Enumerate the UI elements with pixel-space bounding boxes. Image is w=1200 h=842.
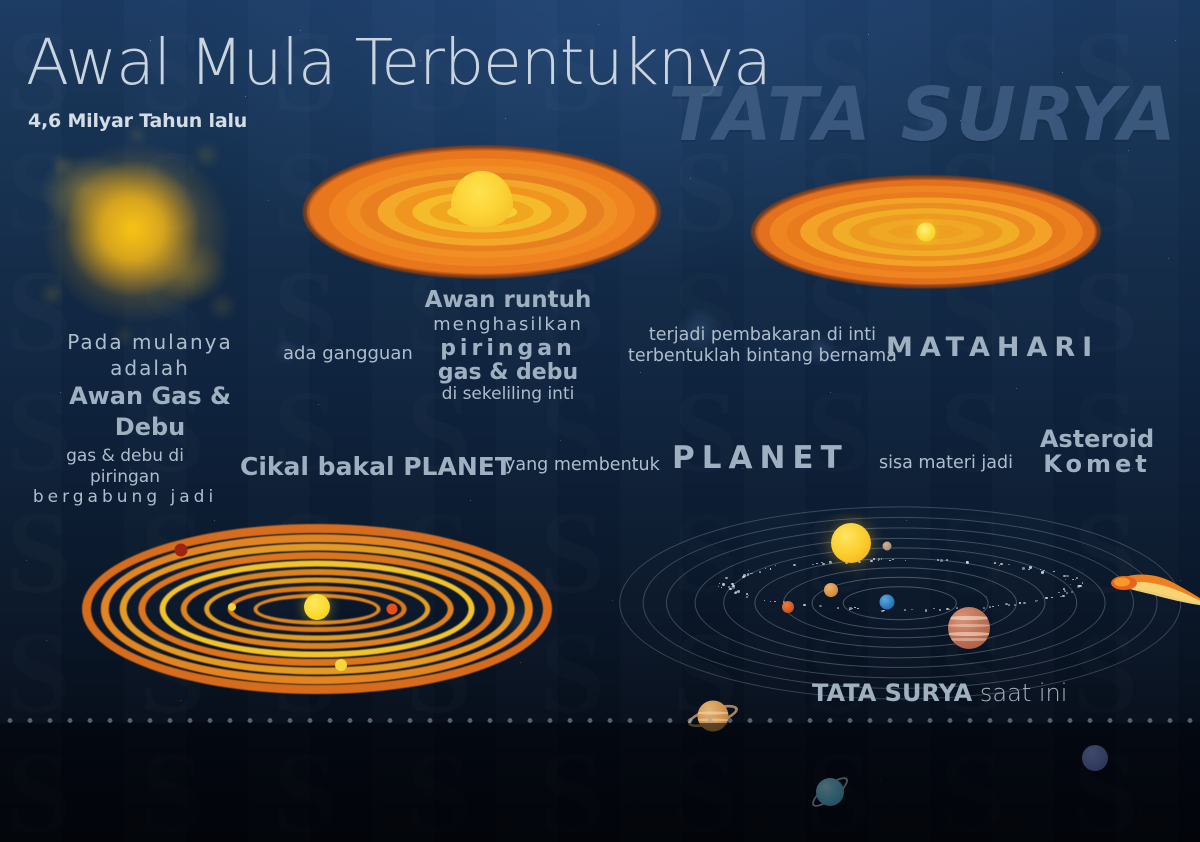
protoplanet-yellow <box>335 659 347 671</box>
caption-planets: yang membentuk <box>505 455 660 475</box>
planet-earth <box>880 594 895 609</box>
label-matahari: MATAHARI <box>886 332 1099 363</box>
caption-collapse-l1: Awan runtuh <box>410 288 606 313</box>
label-asteroid: Asteroid <box>1022 427 1172 452</box>
protoplanetary-disk-graphic <box>308 148 656 276</box>
label-tata-surya-today: TATA SURYA saat ini <box>812 679 1067 707</box>
planet-jupiter <box>948 607 990 649</box>
sun <box>831 523 871 563</box>
caption-planets-light: yang membentuk <box>505 455 660 475</box>
label-tata-surya-bold: TATA SURYA <box>812 679 972 707</box>
label-komet: Komet <box>1022 452 1172 477</box>
caption-leftovers: sisa materi jadi <box>879 453 1013 473</box>
jupiter-band <box>948 624 990 627</box>
caption-collapse: Awan runtuh menghasilkan piringan gas & … <box>410 288 606 403</box>
page-title: Awal Mula Terbentuknya <box>26 26 771 99</box>
protoplanetary-disk-sun-graphic <box>756 178 1096 286</box>
jupiter-band <box>948 638 990 641</box>
label-tata-surya-light: saat ini <box>980 679 1068 707</box>
label-asteroid-komet: Asteroid Komet <box>1022 427 1172 477</box>
caption-accretion-l1: gas & debu di piringan <box>32 446 218 487</box>
jupiter-band <box>948 616 990 620</box>
gas-dust-cloud-graphic <box>22 128 252 338</box>
asteroid-belt <box>640 498 1160 708</box>
caption-cloud-light: Pada mulanya adalah <box>30 330 270 381</box>
caption-cloud: Pada mulanya adalah Awan Gas & Debu <box>30 330 270 443</box>
caption-collapse-l2: menghasilkan <box>410 315 606 334</box>
planet-mercury <box>883 542 892 551</box>
solar-system-today-graphic <box>640 498 1160 708</box>
caption-collapse-l3: piringan <box>410 337 606 361</box>
caption-accretion-l2: bergabung jadi <box>32 487 218 508</box>
caption-ignition-l1: terjadi pembakaran di inti <box>628 325 897 346</box>
protoplanet-yellow-small <box>228 603 236 611</box>
proto-sun <box>917 223 936 242</box>
caption-collapse-l5: di sekeliling inti <box>410 385 606 403</box>
comet-icon <box>1108 567 1200 613</box>
protoplanet-red <box>174 543 187 556</box>
big-title: TATA SURYA <box>668 72 1178 158</box>
label-planet-text: PLANET <box>672 440 849 476</box>
caption-ignition: terjadi pembakaran di inti terbentuklah … <box>628 325 897 366</box>
proto-star <box>304 594 330 620</box>
label-cikal-bakal-planet-text: Cikal bakal PLANET <box>240 452 512 481</box>
caption-ignition-l2: terbentuklah bintang bernama <box>628 346 897 367</box>
caption-leftovers-light: sisa materi jadi <box>879 453 1013 473</box>
protoplanet-orange <box>387 604 398 615</box>
caption-cloud-bold: Awan Gas & Debu <box>30 381 270 442</box>
comet <box>1108 567 1200 613</box>
footer: LANGITSELATAN ASTRO 101 langitselata <box>0 723 1200 842</box>
infographic-poster: SSSSSSSSSSSSSSSSSSSSSSSSSSSSSSSSSSSSSSSS… <box>0 0 1200 842</box>
caption-collapse-l4: gas & debu <box>410 361 606 385</box>
label-cikal-bakal-planet: Cikal bakal PLANET <box>240 452 512 481</box>
proto-orbit-rings-graphic <box>82 524 552 694</box>
jupiter-band <box>948 632 990 636</box>
label-matahari-text: MATAHARI <box>886 332 1099 363</box>
planet-venus <box>824 583 838 597</box>
caption-accretion: gas & debu di piringan bergabung jadi <box>32 446 218 508</box>
caption-disturbance: ada gangguan <box>283 343 413 364</box>
caption-disturbance-light: ada gangguan <box>283 343 413 364</box>
planet-mars <box>782 601 794 613</box>
label-planet: PLANET <box>672 440 849 476</box>
